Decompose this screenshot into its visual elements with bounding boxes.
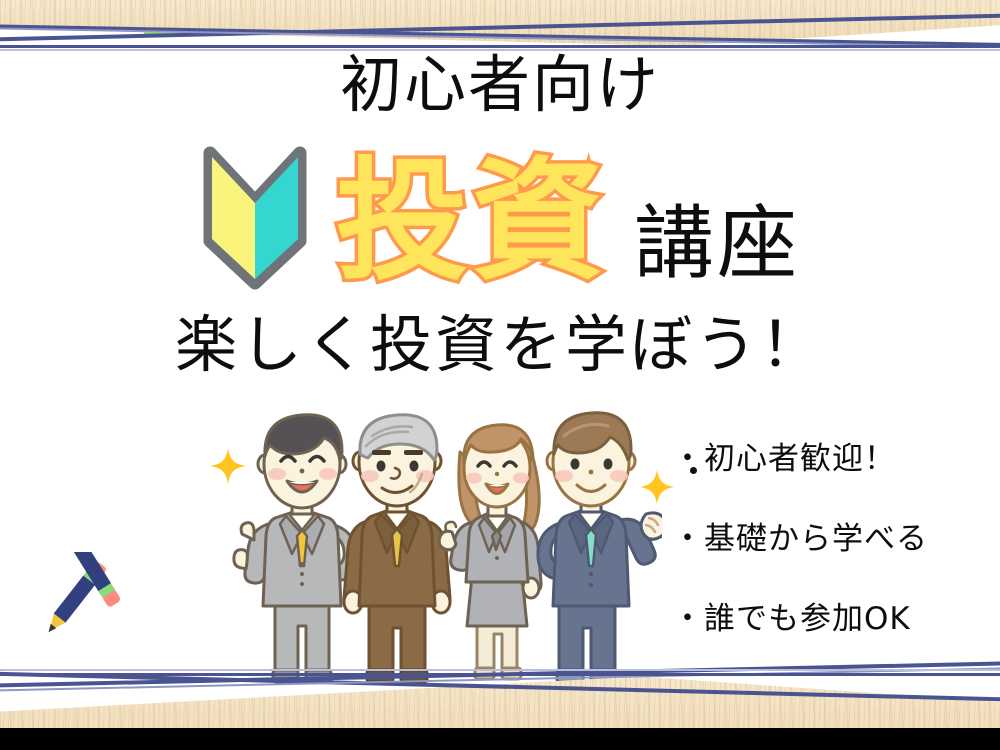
bottom-black-strip — [0, 728, 1000, 750]
poster-canvas: 初心者向け 投資 講座 楽しく投資を学ぼう！ ・初心者歓迎！ ・基礎から学べる … — [0, 0, 1000, 750]
feature-bullet-list: ・初心者歓迎！ ・基礎から学べる ・誰でも参加OK — [672, 444, 972, 684]
person-senior-businessman — [344, 415, 450, 682]
decorative-dot — [690, 467, 697, 474]
people-illustration — [232, 406, 662, 691]
title-main-kanji: 投資 — [336, 156, 608, 288]
person-businessman-fist — [538, 413, 662, 682]
bullet-item-0: ・初心者歓迎！ — [672, 444, 972, 475]
person-young-businessman — [234, 415, 357, 682]
sparkle-icon — [640, 470, 674, 504]
sparkle-icon — [210, 448, 246, 484]
bottom-ribbon-straight — [0, 673, 1000, 676]
bullet-item-1: ・基礎から学べる — [672, 524, 972, 555]
bottom-ribbon-straight-light — [0, 669, 1000, 671]
title-row: 投資 講座 — [0, 138, 1000, 298]
subtitle-text: 楽しく投資を学ぼう！ — [0, 314, 1000, 376]
title-suffix-kanji: 講座 — [634, 204, 800, 284]
bullet-item-2: ・誰でも参加OK — [672, 604, 972, 635]
top-wood-band — [0, 0, 1000, 46]
person-businesswoman — [439, 425, 541, 679]
kicker-text: 初心者向け — [0, 54, 1000, 116]
shoshinsha-mark-icon — [200, 145, 310, 291]
pencils-icon — [38, 552, 158, 662]
